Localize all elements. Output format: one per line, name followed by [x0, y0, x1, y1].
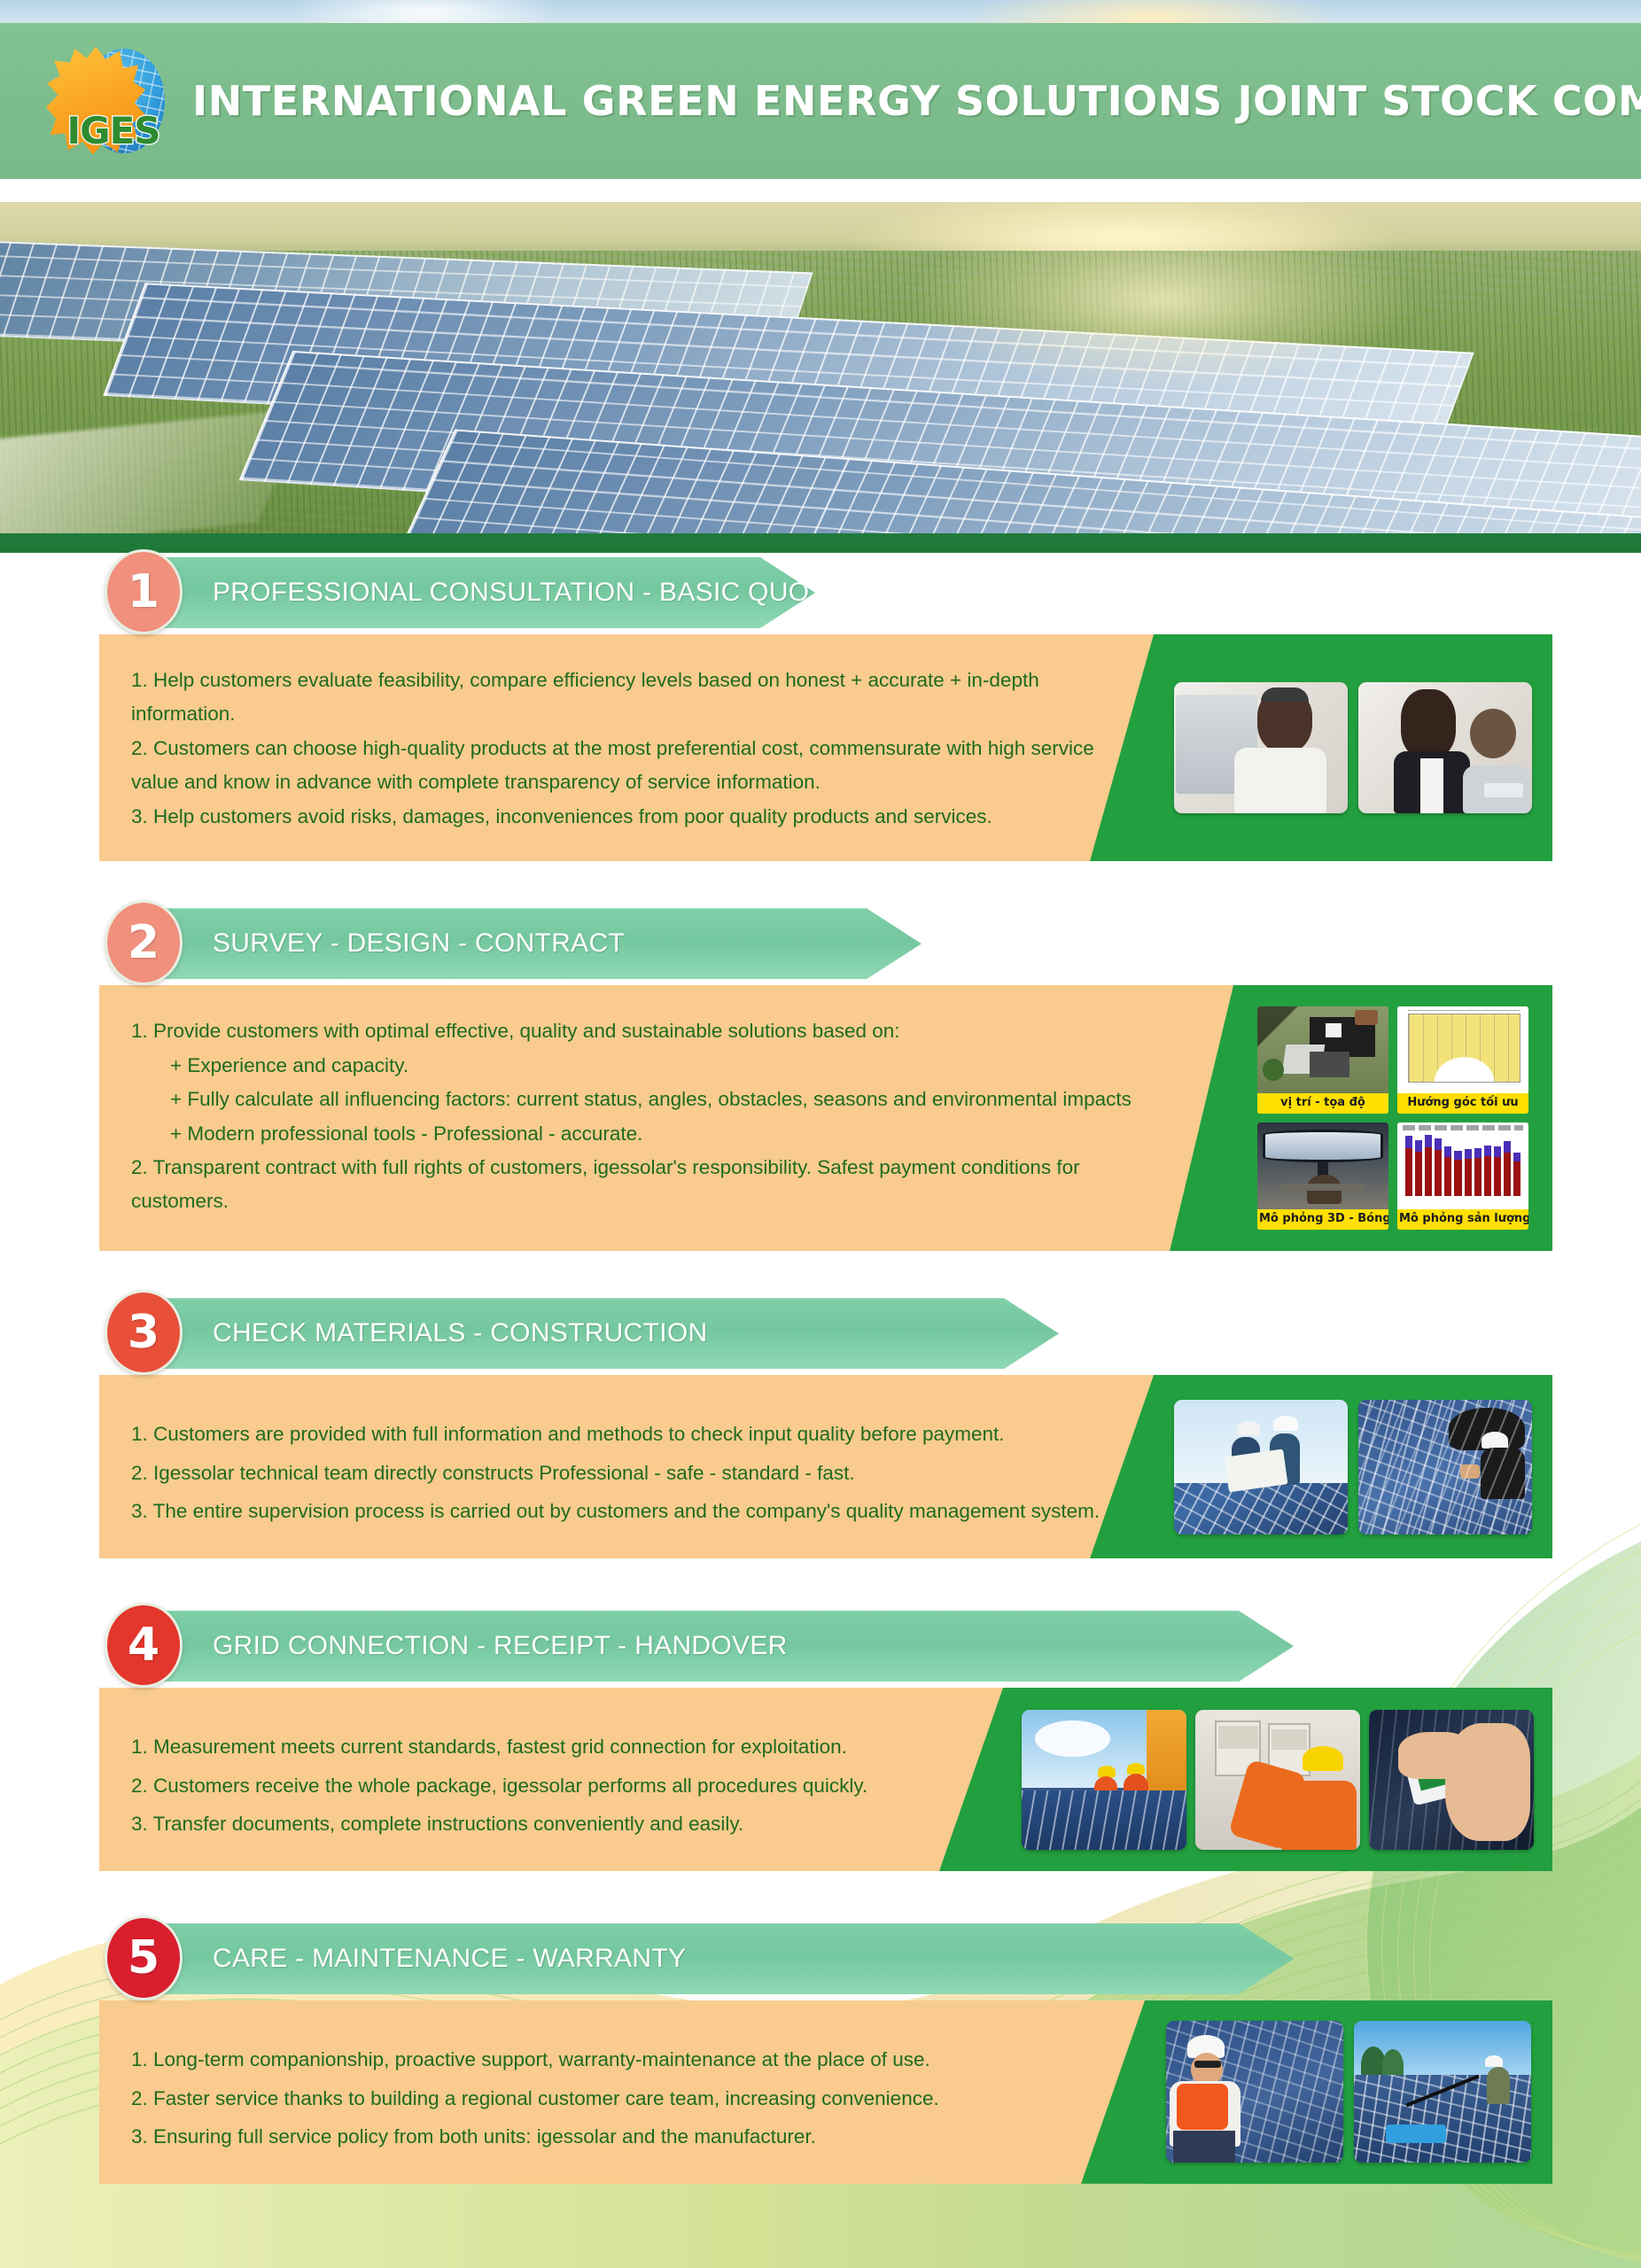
step-2-media: vị trí - tọa độ Hướng góc tối ưu [1233, 985, 1552, 1251]
technicians-on-rooftop-photo [1022, 1710, 1186, 1850]
step-5-line-1: 1. Long-term companionship, proactive su… [131, 2041, 1127, 2078]
yield-simulation-chart-thumb: Mô phỏng sản lượng [1397, 1122, 1528, 1230]
step-1-media [1154, 634, 1552, 861]
step-4-header: 4 GRID CONNECTION - RECEIPT - HANDOVER [0, 1603, 1641, 1688]
step-1-title: PROFESSIONAL CONSULTATION - BASIC QUOTAT… [213, 578, 905, 608]
process-steps: 1 PROFESSIONAL CONSULTATION - BASIC QUOT… [0, 549, 1641, 2200]
optimal-angle-image [1397, 1006, 1528, 1093]
step-3-line-1: 1. Customers are provided with full info… [131, 1416, 1136, 1453]
step-3-text: 1. Customers are provided with full info… [99, 1375, 1154, 1558]
step-1-title-arrow: PROFESSIONAL CONSULTATION - BASIC QUOTAT… [164, 557, 815, 628]
step-2-thumb-grid: vị trí - tọa độ Hướng góc tối ưu [1257, 1006, 1528, 1231]
step-2: 2 SURVEY - DESIGN - CONTRACT 1. Provide … [0, 900, 1641, 1251]
step-5-header: 5 CARE - MAINTENANCE - WARRANTY [0, 1915, 1641, 2000]
step-1-header: 1 PROFESSIONAL CONSULTATION - BASIC QUOT… [0, 549, 1641, 634]
technician-maintenance-photo [1166, 2021, 1343, 2163]
step-2-line-3: + Fully calculate all influencing factor… [131, 1084, 1216, 1115]
yield-simulation-image [1397, 1122, 1528, 1209]
step-1-line-3: 2. Customers can choose high-quality pro… [131, 733, 1136, 765]
workers-installing-panels-photo [1358, 1400, 1532, 1534]
site-coordinates-caption: vị trí - tọa độ [1257, 1093, 1388, 1114]
step-2-title-arrow: SURVEY - DESIGN - CONTRACT [164, 908, 922, 979]
step-2-title: SURVEY - DESIGN - CONTRACT [213, 928, 625, 959]
step-1-body: 1. Help customers evaluate feasibility, … [99, 634, 1552, 861]
page-header: IGES INTERNATIONAL GREEN ENERGY SOLUTION… [0, 23, 1641, 179]
step-4: 4 GRID CONNECTION - RECEIPT - HANDOVER 1… [0, 1603, 1641, 1871]
step-2-line-5: 2. Transparent contract with full rights… [131, 1152, 1216, 1184]
company-logo: IGES [41, 42, 169, 161]
step-1-line-4: value and know in advance with complete … [131, 766, 1136, 798]
step-4-line-1: 1. Measurement meets current standards, … [131, 1728, 985, 1766]
page-title: INTERNATIONAL GREEN ENERGY SOLUTIONS JOI… [192, 77, 1641, 125]
optimal-angle-caption: Hướng góc tối ưu [1397, 1093, 1528, 1114]
step-2-line-2: + Experience and capacity. [131, 1050, 1216, 1082]
hero-panel-rows [0, 236, 1641, 528]
engineers-reviewing-plans-photo [1174, 1400, 1348, 1534]
consultant-on-headset-photo [1174, 682, 1348, 813]
step-5-number-badge: 5 [105, 1915, 183, 2000]
step-3-title-arrow: CHECK MATERIALS - CONSTRUCTION [164, 1298, 1059, 1369]
step-1-number-badge: 1 [105, 549, 183, 634]
panel-cleaning-photo [1354, 2021, 1531, 2163]
step-2-line-1: 1. Provide customers with optimal effect… [131, 1015, 1216, 1047]
logo-text: IGES [60, 109, 167, 152]
step-3-line-2: 2. Igessolar technical team directly con… [131, 1455, 1136, 1492]
step-1-text: 1. Help customers evaluate feasibility, … [99, 634, 1154, 861]
step-4-media [1003, 1688, 1552, 1871]
step-5-line-3: 3. Ensuring full service policy from bot… [131, 2118, 1127, 2155]
step-5-text: 1. Long-term companionship, proactive su… [99, 2000, 1145, 2184]
step-2-line-6: customers. [131, 1185, 1216, 1217]
step-1-line-1: 1. Help customers evaluate feasibility, … [131, 664, 1136, 696]
step-3: 3 CHECK MATERIALS - CONSTRUCTION 1. Cust… [0, 1290, 1641, 1558]
step-4-title: GRID CONNECTION - RECEIPT - HANDOVER [213, 1631, 788, 1661]
hero-solar-farm-photo [0, 202, 1641, 533]
step-5-title-arrow: CARE - MAINTENANCE - WARRANTY [164, 1923, 1294, 1994]
step-4-line-2: 2. Customers receive the whole package, … [131, 1767, 985, 1805]
aerial-site-image [1257, 1006, 1388, 1093]
step-3-title: CHECK MATERIALS - CONSTRUCTION [213, 1318, 707, 1348]
3d-shading-caption: Mô phỏng 3D - Bóng che [1257, 1209, 1388, 1230]
step-4-title-arrow: GRID CONNECTION - RECEIPT - HANDOVER [164, 1611, 1294, 1682]
step-5-body: 1. Long-term companionship, proactive su… [99, 2000, 1552, 2184]
step-4-text: 1. Measurement meets current standards, … [99, 1688, 1003, 1871]
handover-documents-photo [1369, 1710, 1534, 1850]
electrician-reading-meter-photo [1195, 1710, 1360, 1850]
step-5: 5 CARE - MAINTENANCE - WARRANTY 1. Long-… [0, 1915, 1641, 2184]
step-3-media [1154, 1375, 1552, 1558]
step-2-text: 1. Provide customers with optimal effect… [99, 985, 1233, 1251]
step-2-body: 1. Provide customers with optimal effect… [99, 985, 1552, 1251]
3d-shading-image [1257, 1122, 1388, 1209]
step-4-body: 1. Measurement meets current standards, … [99, 1688, 1552, 1871]
step-2-header: 2 SURVEY - DESIGN - CONTRACT [0, 900, 1641, 985]
step-1: 1 PROFESSIONAL CONSULTATION - BASIC QUOT… [0, 549, 1641, 861]
step-1-line-2: information. [131, 698, 1136, 730]
step-3-number-badge: 3 [105, 1290, 183, 1375]
step-3-line-3: 3. The entire supervision process is car… [131, 1493, 1136, 1530]
step-3-header: 3 CHECK MATERIALS - CONSTRUCTION [0, 1290, 1641, 1375]
step-4-line-3: 3. Transfer documents, complete instruct… [131, 1806, 985, 1843]
step-2-number-badge: 2 [105, 900, 183, 985]
advisor-meeting-client-photo [1358, 682, 1532, 813]
step-4-number-badge: 4 [105, 1603, 183, 1688]
step-1-line-5: 3. Help customers avoid risks, damages, … [131, 801, 1136, 833]
site-coordinates-aerial-thumb: vị trí - tọa độ [1257, 1006, 1388, 1114]
step-5-line-2: 2. Faster service thanks to building a r… [131, 2080, 1127, 2117]
optimal-angle-chart-thumb: Hướng góc tối ưu [1397, 1006, 1528, 1114]
3d-shading-simulation-thumb: Mô phỏng 3D - Bóng che [1257, 1122, 1388, 1230]
step-5-title: CARE - MAINTENANCE - WARRANTY [213, 1944, 686, 1974]
step-2-line-4: + Modern professional tools - Profession… [131, 1118, 1216, 1150]
step-3-body: 1. Customers are provided with full info… [99, 1375, 1552, 1558]
step-5-media [1145, 2000, 1552, 2184]
yield-simulation-caption: Mô phỏng sản lượng [1397, 1209, 1528, 1230]
